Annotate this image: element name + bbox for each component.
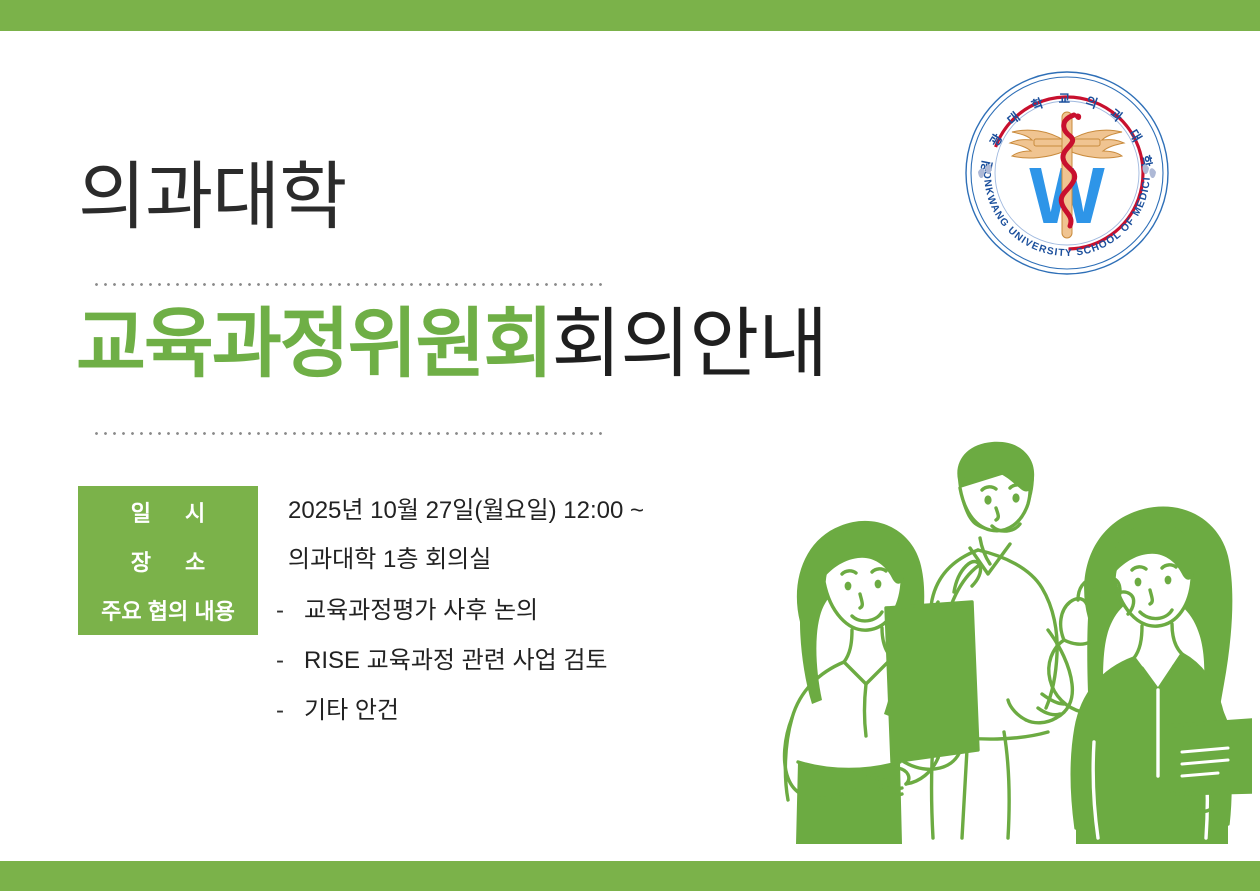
bottom-accent-bar: [0, 861, 1260, 891]
poster-canvas: 원 광 대 학 교 의 과 대 학 WONKWANG UNIVERSITY SC…: [0, 0, 1260, 891]
three-people-illustration: [742, 432, 1252, 844]
page-title: 교육과정위원회회의안내: [76, 307, 827, 383]
page-title-highlight: 교육과정위원회: [76, 302, 551, 387]
list-item: - RISE 교육과정 관련 사업 검토: [276, 640, 678, 675]
page-subtitle: 의과대학: [78, 160, 346, 234]
info-label-agenda: 주요 협의 내용: [78, 584, 258, 635]
bullet-dash-icon: -: [276, 597, 304, 625]
list-item: - 기타 안건: [276, 690, 678, 725]
info-row-datetime: 일시 2025년 10월 27일(월요일) 12:00 ~: [78, 486, 678, 526]
info-label-datetime-char1: 일: [131, 496, 151, 528]
list-item: - 교육과정평가 사후 논의: [276, 590, 678, 625]
bullet-dash-icon: -: [276, 647, 304, 675]
info-row-location: 장소 의과대학 1층 회의실: [78, 535, 678, 575]
divider-upper: [92, 283, 607, 286]
agenda-list: - 교육과정평가 사후 논의 - RISE 교육과정 관련 사업 검토 - 기타…: [276, 584, 678, 725]
bullet-dash-icon: -: [276, 697, 304, 725]
divider-lower: [92, 432, 607, 435]
page-title-plain: 회의안내: [551, 302, 827, 387]
info-value-datetime: 2025년 10월 27일(월요일) 12:00 ~: [288, 486, 678, 526]
info-value-location: 의과대학 1층 회의실: [288, 535, 678, 575]
info-label-location-char1: 장: [131, 545, 151, 577]
info-label-location-char2: 소: [185, 545, 205, 577]
list-item-label: RISE 교육과정 관련 사업 검토: [304, 640, 608, 675]
tablet-right: [1166, 720, 1252, 794]
info-row-agenda: 주요 협의 내용 - 교육과정평가 사후 논의 - RISE 교육과정 관련 사…: [78, 584, 678, 725]
info-label-datetime: 일시: [78, 486, 258, 537]
info-table: 일시 2025년 10월 27일(월요일) 12:00 ~ 장소 의과대학 1층…: [78, 486, 678, 740]
tablet-left: [886, 602, 978, 769]
top-accent-bar: [0, 0, 1260, 31]
info-label-location: 장소: [78, 535, 258, 586]
list-item-label: 교육과정평가 사후 논의: [304, 590, 538, 625]
info-label-datetime-char2: 시: [185, 496, 205, 528]
list-item-label: 기타 안건: [304, 690, 399, 725]
university-emblem: 원 광 대 학 교 의 과 대 학 WONKWANG UNIVERSITY SC…: [962, 68, 1172, 278]
